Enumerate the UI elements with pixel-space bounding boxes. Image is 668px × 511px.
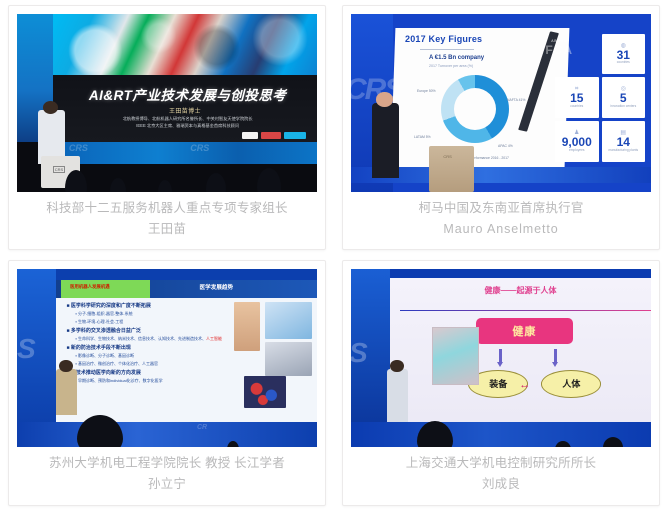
stat-item: ⌗ 15 countries — [555, 77, 599, 118]
speaker-title: 苏州大学机电工程学院院长 教授 长江学者 — [49, 455, 285, 472]
stat-label: countries — [570, 105, 583, 109]
audience-silhouettes — [17, 405, 317, 447]
speaker-photo-ai-rt[interactable]: AI&RT产业技术发展与创投思考 王田苗博士 北航教授博导、北航机器人研究所名誉… — [17, 14, 317, 192]
speaker-photo-key-figures[interactable]: CRS 2017 Key Figures A €1.5 Bn company 2… — [351, 14, 651, 192]
stat-label: innovation centers — [610, 105, 636, 109]
speaker-figure — [372, 103, 399, 178]
speaker-head — [59, 360, 73, 372]
speaker-caption: 柯马中国及东南亚首席执行官 Mauro Anselmetto — [343, 192, 659, 249]
stat-label: employees — [569, 149, 584, 153]
stat-number: 14 — [617, 136, 630, 149]
slide-image-cells — [244, 376, 286, 407]
speaker-card-grid: AI&RT产业技术发展与创投思考 王田苗博士 北航教授博导、北航机器人研究所名誉… — [0, 0, 668, 511]
speaker-head — [390, 360, 404, 372]
slide-image-robot-arm — [234, 302, 260, 350]
stage-scene: AI&RT产业技术发展与创投思考 王田苗博士 北航教授博导、北航机器人研究所名誉… — [17, 14, 317, 192]
speaker-caption: 上海交通大学机电控制研究所所长 刘成良 — [343, 447, 659, 505]
bullet-l2: ▪ 生物-环境-心理-社会-工程 — [75, 319, 228, 325]
stat-spacer — [555, 34, 599, 75]
slide-divider — [420, 49, 474, 50]
health-node: 健康 — [476, 318, 573, 344]
bullet-l1: ■ 新的防治技术手段不断出现 — [66, 344, 228, 351]
bullet-l2: ▪ 影像诊断、分子诊断、基因诊断 — [75, 353, 228, 359]
slide-subnote: 2017 Turnover per area (%) — [429, 64, 473, 68]
bullet-l2: ▪ 分子-细胞-组织-器官-整体-系统 — [75, 311, 228, 317]
speaker-name: 王田苗 — [148, 221, 186, 238]
audience-silhouettes — [351, 411, 651, 447]
arrow-down-right-icon — [552, 349, 559, 368]
slide-title: 健康——起源于人体 — [390, 285, 651, 296]
stat-label: manufacturing plants — [608, 149, 638, 153]
speaker-card-liu-chengliang[interactable]: S 健康——起源于人体 健康 装备 人体 ↔ — [342, 260, 660, 506]
stage-scene: S 健康——起源于人体 健康 装备 人体 ↔ — [351, 269, 651, 447]
slide-subtitle: 王田苗博士 — [53, 106, 317, 115]
slide-subtitle: A €1.5 Bn company — [429, 55, 484, 61]
stat-item: ◍ 31 countries — [602, 34, 646, 75]
slide-title: 医学发展趋势 — [200, 283, 234, 291]
donut-label-2: LATAM 5% — [414, 135, 431, 139]
slide-bullet-list: ■ 医学科学研究的深度和广度不断拓展 ▪ 分子-细胞-组织-器官-整体-系统 ▪… — [66, 302, 228, 386]
speaker-title: 上海交通大学机电控制研究所所长 — [406, 455, 597, 472]
bullet-l2: ▪ 基因治疗、微创治疗、个体化治疗、人工器官 — [75, 361, 228, 367]
stat-item: ♟ 9,000 employees — [555, 121, 599, 162]
slide-image-surgery-robot — [265, 302, 312, 339]
speaker-caption: 苏州大学机电工程学院院长 教授 长江学者 孙立宁 — [9, 447, 325, 505]
slide-header: 医用机器人发展机遇 医学发展趋势 — [56, 280, 317, 299]
double-arrow-icon: ↔ — [519, 379, 530, 391]
speaker-card-wang-tianmiao[interactable]: AI&RT产业技术发展与创投思考 王田苗博士 北航教授博导、北航机器人研究所名誉… — [8, 5, 326, 250]
slide-tab-label: 医用机器人发展机遇 — [70, 284, 110, 290]
speaker-caption: 科技部十二五服务机器人重点专项专家组长 王田苗 — [9, 192, 325, 249]
stat-item: ▤ 14 manufacturing plants — [602, 121, 646, 162]
stat-item: ◎ 5 innovation centers — [602, 77, 646, 118]
donut-label-0: Europe 50% — [417, 89, 436, 93]
slide-image-equipment — [432, 327, 479, 385]
stage-scene: S 医用机器人发展机遇 医学发展趋势 ■ 医学科学研究的深度和广度不断拓展 ▪ … — [17, 269, 317, 447]
speaker-head — [43, 101, 58, 113]
podium-logo: CRS — [443, 154, 451, 159]
audience-silhouettes — [17, 158, 317, 192]
stage-scene: CRS 2017 Key Figures A €1.5 Bn company 2… — [351, 14, 651, 192]
bullet-l2: ▪ 早期诊断、预防和individual化诊疗、数字化医学 — [75, 378, 228, 384]
presentation-screen: AI&RT产业技术发展与创投思考 王田苗博士 北航教授博导、北航机器人研究所名誉… — [53, 75, 317, 143]
bullet-l1: ■ 新技术推动医学向新的方向发展 — [66, 369, 228, 376]
speaker-name: 孙立宁 — [148, 476, 186, 493]
slide-image-device — [265, 342, 312, 376]
slide-description: 北航教授博导、北航机器人研究所名誉所长、中关村智友天使学院院长 IEEE 北京大… — [85, 116, 291, 130]
speaker-head — [376, 92, 393, 106]
speaker-name: 刘成良 — [482, 476, 520, 493]
bullet-l1: ■ 多学科的交叉渗透融合日益广泛 — [66, 327, 228, 334]
slide-tab: 医用机器人发展机遇 — [61, 280, 150, 299]
band-logo-left: CRS — [69, 143, 88, 153]
sponsor-logo-row — [242, 132, 306, 139]
speaker-photo-health[interactable]: S 健康——起源于人体 健康 装备 人体 ↔ — [351, 269, 651, 447]
backdrop-logo: S — [351, 337, 368, 369]
stage-top-banner-imagery — [53, 14, 317, 75]
podium: CRS — [429, 146, 474, 192]
speaker-title: 科技部十二五服务机器人重点专项专家组长 — [46, 200, 287, 217]
donut-label-3: APAC 4% — [498, 144, 513, 148]
speaker-title: 柯马中国及东南亚首席执行官 — [418, 200, 583, 217]
speaker-card-sun-lining[interactable]: S 医用机器人发展机遇 医学发展趋势 ■ 医学科学研究的深度和广度不断拓展 ▪ … — [8, 260, 326, 506]
bullet-l1: ■ 医学科学研究的深度和广度不断拓展 — [66, 302, 228, 309]
bullet-highlight: 人工智能 — [206, 336, 222, 341]
bullet-l2: ▪ 生命科学、生物技术、纳米技术、信息技术、认知技术、先进制造技术、人工智能 — [75, 336, 228, 342]
speaker-name: Mauro Anselmetto — [443, 221, 558, 238]
stat-number: 9,000 — [562, 136, 592, 149]
slide-divider — [400, 310, 651, 312]
presentation-screen: 医用机器人发展机遇 医学发展趋势 ■ 医学科学研究的深度和广度不断拓展 ▪ 分子… — [56, 280, 317, 422]
donut-chart — [441, 75, 509, 143]
presentation-screen: 健康——起源于人体 健康 装备 人体 ↔ — [390, 278, 651, 422]
donut-label-1: NAFTA 41% — [507, 98, 525, 102]
slide-title: 2017 Key Figures — [405, 34, 482, 44]
speaker-photo-medical-trend[interactable]: S 医用机器人发展机遇 医学发展趋势 ■ 医学科学研究的深度和广度不断拓展 ▪ … — [17, 269, 317, 447]
key-figures-stats: ◍ 31 countries ⌗ 15 countries ◎ 5 innova… — [555, 34, 645, 162]
node-human-body: 人体 — [541, 370, 601, 397]
band-logo-right: CRS — [190, 143, 209, 153]
arrow-down-left-icon — [497, 349, 504, 368]
backdrop-logo: S — [17, 333, 36, 365]
speaker-card-mauro-anselmetto[interactable]: CRS 2017 Key Figures A €1.5 Bn company 2… — [342, 5, 660, 250]
slide-title: AI&RT产业技术发展与创投思考 — [69, 84, 307, 104]
stat-label: countries — [617, 61, 630, 65]
